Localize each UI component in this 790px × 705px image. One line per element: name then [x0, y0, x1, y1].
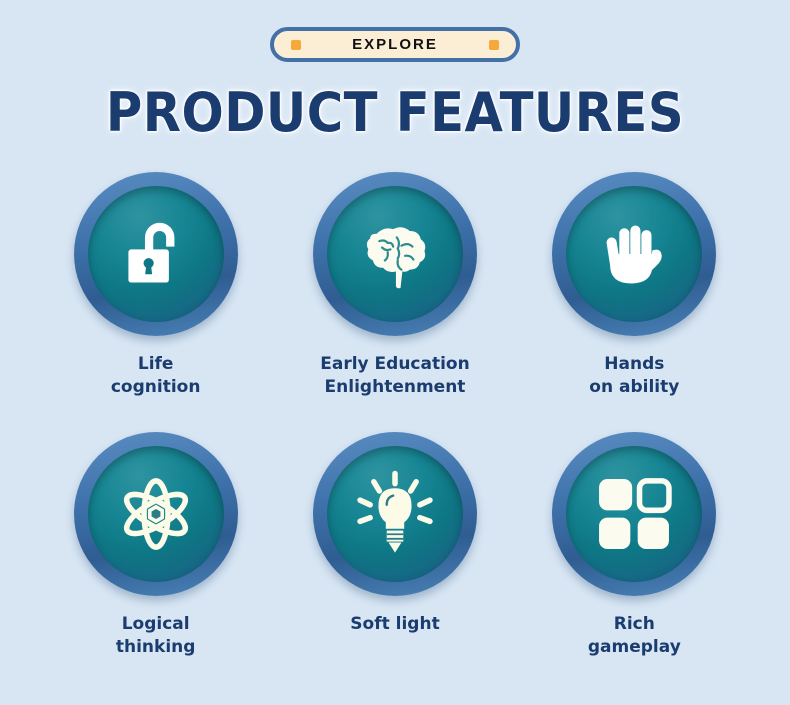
grid-blocks-icon — [588, 468, 680, 560]
feature-icon-circle[interactable] — [552, 432, 716, 596]
unlock-icon — [110, 208, 202, 300]
brain-icon — [349, 208, 441, 300]
feature-icon-circle[interactable] — [74, 432, 238, 596]
feature-item-soft-light[interactable]: Soft light — [275, 432, 514, 692]
feature-label: Life cognition — [111, 353, 201, 399]
feature-label: Logical thinking — [116, 613, 196, 659]
badge-right-square-dot-icon — [489, 40, 499, 50]
feature-label: Soft light — [350, 613, 439, 636]
feature-grid: Life cognition Early Education Enlighten… — [36, 172, 754, 692]
atom-icon — [110, 468, 202, 560]
feature-icon-circle[interactable] — [313, 432, 477, 596]
explore-badge[interactable]: EXPLORE — [270, 27, 520, 62]
feature-icon-circle[interactable] — [313, 172, 477, 336]
feature-item-life-cognition[interactable]: Life cognition — [36, 172, 275, 432]
feature-item-hands-on-ability[interactable]: Hands on ability — [515, 172, 754, 432]
feature-item-rich-gameplay[interactable]: Rich gameplay — [515, 432, 754, 692]
badge-left-square-dot-icon — [291, 40, 301, 50]
lightbulb-icon — [349, 468, 441, 560]
page-title: PRODUCT FEATURES — [32, 86, 759, 140]
hand-icon — [588, 208, 680, 300]
feature-icon-circle[interactable] — [552, 172, 716, 336]
explore-badge-container: EXPLORE — [0, 27, 790, 62]
feature-label: Rich gameplay — [588, 613, 681, 659]
explore-badge-label: EXPLORE — [352, 37, 438, 52]
feature-icon-circle[interactable] — [74, 172, 238, 336]
feature-item-logical-thinking[interactable]: Logical thinking — [36, 432, 275, 692]
feature-label: Hands on ability — [589, 353, 679, 399]
feature-item-early-education-enlightenment[interactable]: Early Education Enlightenment — [275, 172, 514, 432]
feature-label: Early Education Enlightenment — [320, 353, 469, 399]
